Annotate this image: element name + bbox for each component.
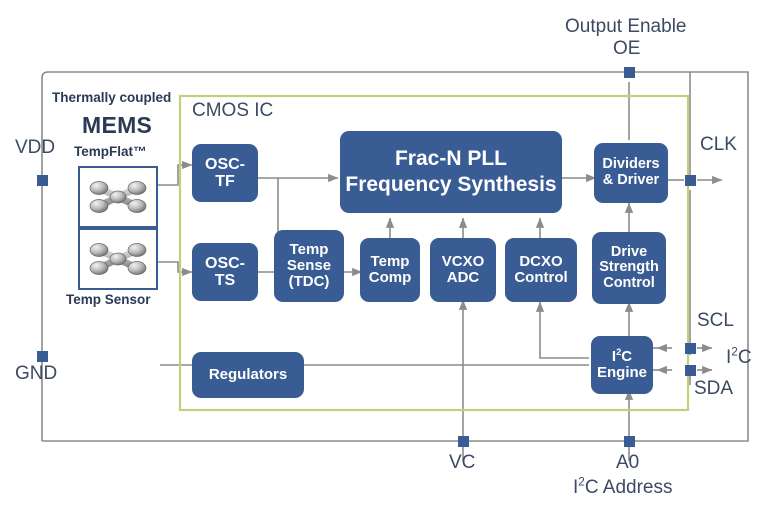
tempflat-label: TempFlat™ [74,144,147,159]
block-regulators[interactable]: Regulators [192,352,304,398]
temp-sense-line3: (TDC) [289,274,330,290]
pin-label-i2c-address: I2C Address [573,477,672,499]
pin-label-gnd: GND [15,363,57,385]
block-vcxo-adc[interactable]: VCXO ADC [430,238,496,302]
temp-comp-line2: Comp [369,270,412,286]
pin-label-vdd: VDD [15,137,55,159]
pin-label-sda: SDA [694,378,733,400]
pin-label-clk: CLK [700,134,737,156]
block-osc-tf[interactable]: OSC- TF [192,144,258,202]
osc-ts-line2: TS [215,272,235,289]
dividers-line2: & Driver [603,173,659,189]
osc-tf-line1: OSC- [205,156,245,173]
regulators-label: Regulators [209,367,287,383]
pll-line2: Frequency Synthesis [345,172,556,198]
pll-line1: Frac-N PLL [395,146,507,172]
i2c-engine-line2: Engine [597,365,647,381]
mems-title: MEMS [82,112,152,139]
temp-sense-line2: Sense [287,258,331,274]
temp-sense-line1: Temp [290,242,329,258]
pin-label-vc: VC [449,452,475,474]
temp-comp-line1: Temp [371,254,410,270]
osc-tf-line2: TF [215,173,235,190]
drive-strength-line2: Strength [599,260,659,276]
osc-ts-line1: OSC- [205,255,245,272]
temp-sensor-label: Temp Sensor [66,292,151,307]
pin-label-scl: SCL [697,310,734,332]
pin-label-output-enable: Output Enable [565,16,686,38]
i2c-engine-line1: I2C [612,349,632,365]
block-diagram: Thermally coupled MEMS TempFlat™ Temp Se… [0,0,771,521]
pin-label-a0: A0 [616,452,639,474]
dividers-line1: Dividers [602,157,659,173]
dcxo-control-line1: DCXO [519,254,562,270]
block-frac-n-pll[interactable]: Frac-N PLL Frequency Synthesis [340,131,562,213]
block-dcxo-control[interactable]: DCXO Control [505,238,577,302]
vcxo-adc-line2: ADC [447,270,480,286]
cmos-ic-label: CMOS IC [192,100,273,122]
drive-strength-line3: Control [603,276,655,292]
block-temp-sense[interactable]: Temp Sense (TDC) [274,230,344,302]
block-osc-ts[interactable]: OSC- TS [192,243,258,301]
block-temp-comp[interactable]: Temp Comp [360,238,420,302]
block-i2c-engine[interactable]: I2C Engine [591,336,653,394]
block-drive-strength-control[interactable]: Drive Strength Control [592,232,666,304]
drive-strength-line1: Drive [611,245,647,261]
pin-label-i2c: I2C [726,347,752,369]
vcxo-adc-line1: VCXO [442,254,485,270]
thermally-coupled-label: Thermally coupled [52,90,171,105]
block-dividers-driver[interactable]: Dividers & Driver [594,143,668,203]
pin-label-oe: OE [613,38,640,60]
dcxo-control-line2: Control [514,270,567,286]
